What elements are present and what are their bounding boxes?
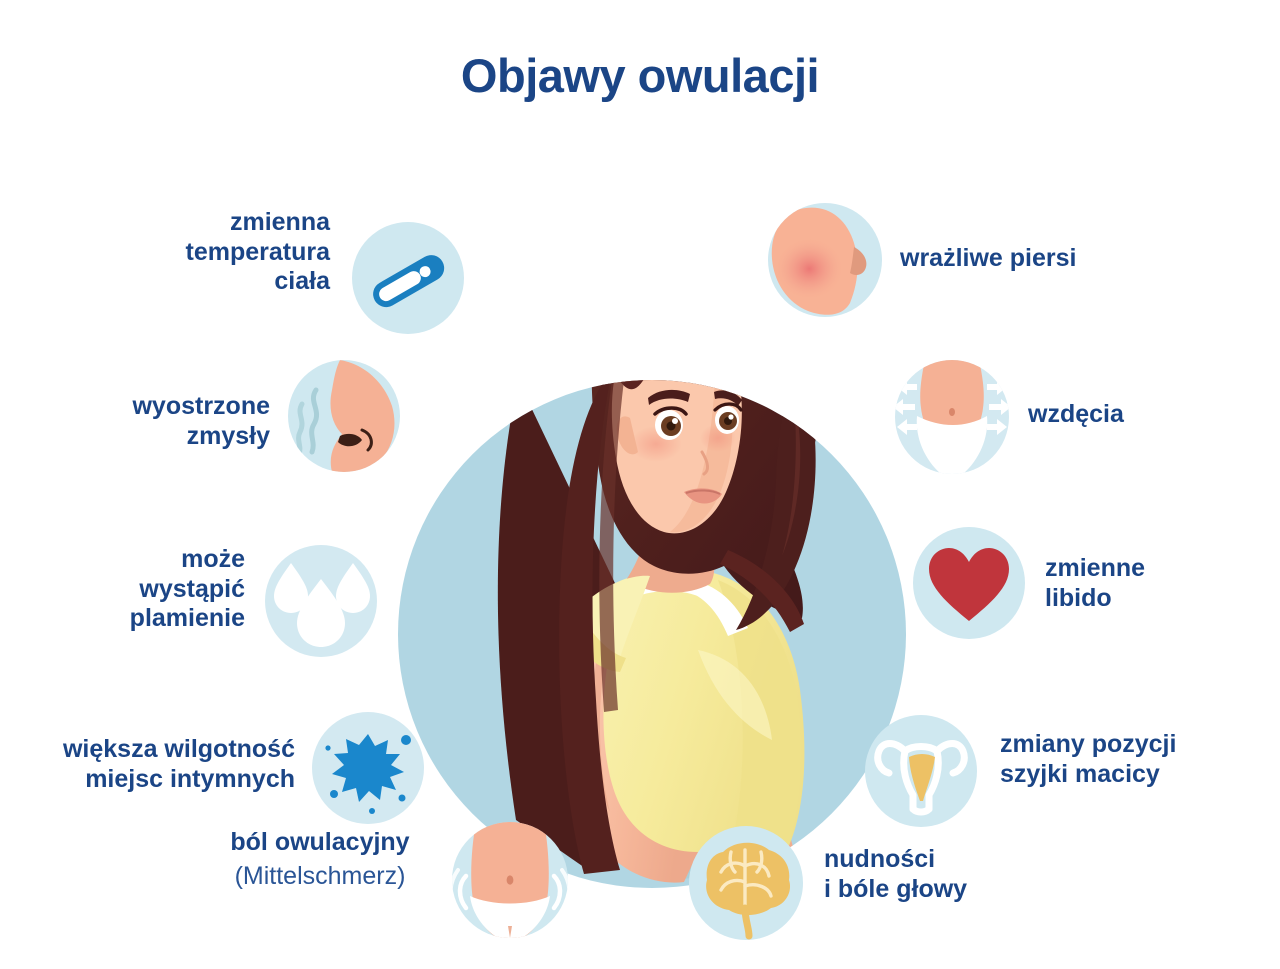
label-spotting: może wystąpić plamienie xyxy=(80,545,245,634)
page-title: Objawy owulacji xyxy=(0,48,1280,103)
uterus-icon xyxy=(865,715,977,827)
breast-icon xyxy=(768,203,882,317)
sublabel-mittelschmerz: (Mittelschmerz) xyxy=(195,862,445,892)
label-basal-temperature: zmienna temperatura ciała xyxy=(130,208,330,297)
lower-belly-pain-icon xyxy=(452,822,568,938)
label-cervical-mucus: większa wilgotność miejsc intymnych xyxy=(10,735,295,794)
label-cervix-position: zmiany pozycji szyjki macicy xyxy=(1000,730,1280,789)
blue-splash-icon xyxy=(312,712,424,824)
bloated-belly-icon xyxy=(895,360,1009,474)
infographic-root: Objawy owulacji xyxy=(0,0,1280,969)
label-mittelschmerz: ból owulacyjny xyxy=(195,828,445,858)
label-bloating: wzdęcia xyxy=(1028,400,1248,430)
brain-icon xyxy=(689,826,803,940)
label-tender-breasts: wrażliwe piersi xyxy=(900,244,1180,274)
thermometer-icon xyxy=(352,222,464,334)
label-nausea-headache: nudności i bóle głowy xyxy=(824,845,1104,904)
water-drops-icon xyxy=(265,545,377,657)
label-libido: zmienne libido xyxy=(1045,554,1245,613)
nose-smell-icon xyxy=(288,360,400,472)
label-heightened-senses: wyostrzone zmysły xyxy=(80,392,270,451)
heart-icon xyxy=(913,527,1025,639)
